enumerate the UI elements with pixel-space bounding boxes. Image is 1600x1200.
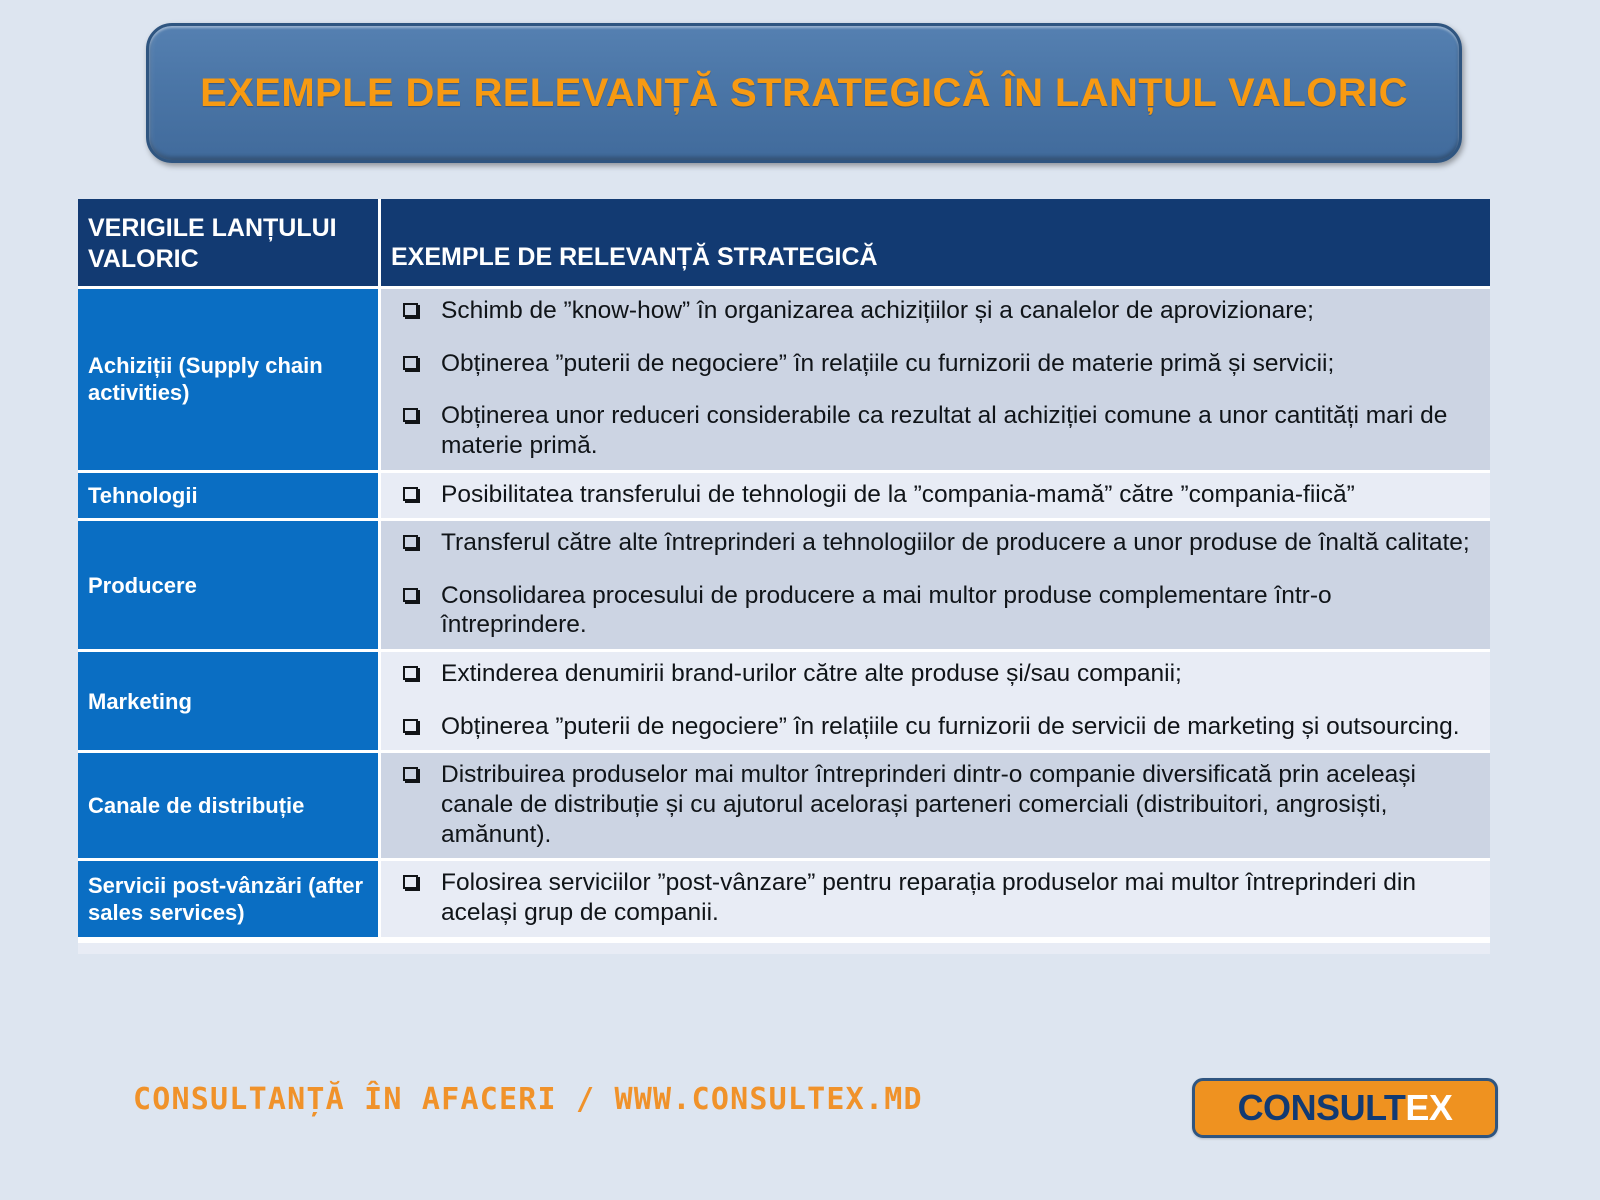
stage-cell-producere: Producere — [78, 521, 381, 652]
examples-cell-canale-de-distributie: Distribuirea produselor mai multor între… — [381, 753, 1490, 861]
table-header: VERIGILE LANȚULUI VALORIC EXEMPLE DE REL… — [78, 199, 1490, 289]
bullet-list: Extinderea denumirii brand-urilor către … — [391, 659, 1476, 741]
list-item-text: Obținerea ”puterii de negociere” în rela… — [441, 713, 1460, 740]
list-item-text: Obținerea ”puterii de negociere” în rela… — [441, 350, 1334, 377]
table-row: Achiziții (Supply chain activities) Schi… — [78, 289, 1490, 473]
square-bullet-icon — [403, 666, 418, 680]
list-item-text: Obținerea unor reduceri considerabile ca… — [441, 402, 1447, 459]
table-row: Tehnologii Posibilitatea transferului de… — [78, 473, 1490, 522]
table-row: Servicii post-vânzări (after sales servi… — [78, 861, 1490, 939]
footer-tagline: CONSULTANȚĂ ÎN AFACERI / WWW.CONSULTEX.M… — [133, 1082, 923, 1117]
examples-cell-servicii-post-vanzari: Folosirea serviciilor ”post-vânzare” pen… — [381, 861, 1490, 939]
list-item: Schimb de ”know-how” în organizarea achi… — [391, 296, 1476, 326]
bullet-list: Transferul către alte întreprinderi a te… — [391, 528, 1476, 640]
logo-text-part-one: CONSULT — [1238, 1087, 1406, 1128]
logo-text: CONSULTEX — [1238, 1090, 1453, 1126]
list-item: Posibilitatea transferului de tehnologii… — [391, 480, 1476, 510]
square-bullet-icon — [403, 719, 418, 733]
title-box: EXEMPLE DE RELEVANȚĂ STRATEGICĂ ÎN LANȚU… — [146, 23, 1462, 163]
column-header-value-chain-links: VERIGILE LANȚULUI VALORIC — [78, 199, 381, 289]
table-header-row: VERIGILE LANȚULUI VALORIC EXEMPLE DE REL… — [78, 199, 1490, 289]
column-header-strategic-relevance-examples: EXEMPLE DE RELEVANȚĂ STRATEGICĂ — [381, 199, 1490, 289]
square-bullet-icon — [403, 303, 418, 317]
examples-cell-tehnologii: Posibilitatea transferului de tehnologii… — [381, 473, 1490, 522]
list-item-text: Extinderea denumirii brand-urilor către … — [441, 660, 1182, 687]
examples-cell-marketing: Extinderea denumirii brand-urilor către … — [381, 652, 1490, 753]
logo-text-part-two: EX — [1405, 1087, 1452, 1128]
table-row: Canale de distribuție Distribuirea produ… — [78, 753, 1490, 861]
list-item: Consolidarea procesului de producere a m… — [391, 581, 1476, 640]
list-item-text: Folosirea serviciilor ”post-vânzare” pen… — [441, 869, 1416, 926]
list-item: Transferul către alte întreprinderi a te… — [391, 528, 1476, 558]
stage-cell-tehnologii: Tehnologii — [78, 473, 381, 522]
value-chain-table-container: VERIGILE LANȚULUI VALORIC EXEMPLE DE REL… — [78, 199, 1490, 954]
stage-cell-marketing: Marketing — [78, 652, 381, 753]
table-body: Achiziții (Supply chain activities) Schi… — [78, 289, 1490, 940]
list-item-text: Schimb de ”know-how” în organizarea achi… — [441, 297, 1314, 324]
table-row: Producere Transferul către alte întrepri… — [78, 521, 1490, 652]
square-bullet-icon — [403, 875, 418, 889]
square-bullet-icon — [403, 535, 418, 549]
bullet-list: Folosirea serviciilor ”post-vânzare” pen… — [391, 868, 1476, 927]
square-bullet-icon — [403, 487, 418, 501]
list-item-text: Consolidarea procesului de producere a m… — [441, 582, 1332, 639]
stage-cell-canale-de-distributie: Canale de distribuție — [78, 753, 381, 861]
page-title: EXEMPLE DE RELEVANȚĂ STRATEGICĂ ÎN LANȚU… — [170, 71, 1438, 115]
list-item: Distribuirea produselor mai multor între… — [391, 760, 1476, 849]
list-item: Extinderea denumirii brand-urilor către … — [391, 659, 1476, 689]
list-item: Obținerea ”puterii de negociere” în rela… — [391, 712, 1476, 742]
list-item-text: Posibilitatea transferului de tehnologii… — [441, 481, 1355, 508]
consultex-logo: CONSULTEX — [1192, 1078, 1498, 1138]
slide-title-banner: EXEMPLE DE RELEVANȚĂ STRATEGICĂ ÎN LANȚU… — [146, 23, 1462, 163]
list-item: Obținerea ”puterii de negociere” în rela… — [391, 349, 1476, 379]
bullet-list: Posibilitatea transferului de tehnologii… — [391, 480, 1476, 510]
list-item: Obținerea unor reduceri considerabile ca… — [391, 401, 1476, 460]
list-item-text: Transferul către alte întreprinderi a te… — [441, 529, 1470, 556]
square-bullet-icon — [403, 356, 418, 370]
bullet-list: Schimb de ”know-how” în organizarea achi… — [391, 296, 1476, 461]
table-bottom-strip — [78, 940, 1490, 954]
list-item-text: Distribuirea produselor mai multor între… — [441, 761, 1416, 847]
examples-cell-achizitii: Schimb de ”know-how” în organizarea achi… — [381, 289, 1490, 473]
list-item: Folosirea serviciilor ”post-vânzare” pen… — [391, 868, 1476, 927]
table-row: Marketing Extinderea denumirii brand-uri… — [78, 652, 1490, 753]
square-bullet-icon — [403, 767, 418, 781]
stage-cell-servicii-post-vanzari: Servicii post-vânzări (after sales servi… — [78, 861, 381, 939]
examples-cell-producere: Transferul către alte întreprinderi a te… — [381, 521, 1490, 652]
bullet-list: Distribuirea produselor mai multor între… — [391, 760, 1476, 849]
square-bullet-icon — [403, 408, 418, 422]
stage-cell-achizitii: Achiziții (Supply chain activities) — [78, 289, 381, 473]
value-chain-table: VERIGILE LANȚULUI VALORIC EXEMPLE DE REL… — [78, 199, 1490, 940]
square-bullet-icon — [403, 588, 418, 602]
